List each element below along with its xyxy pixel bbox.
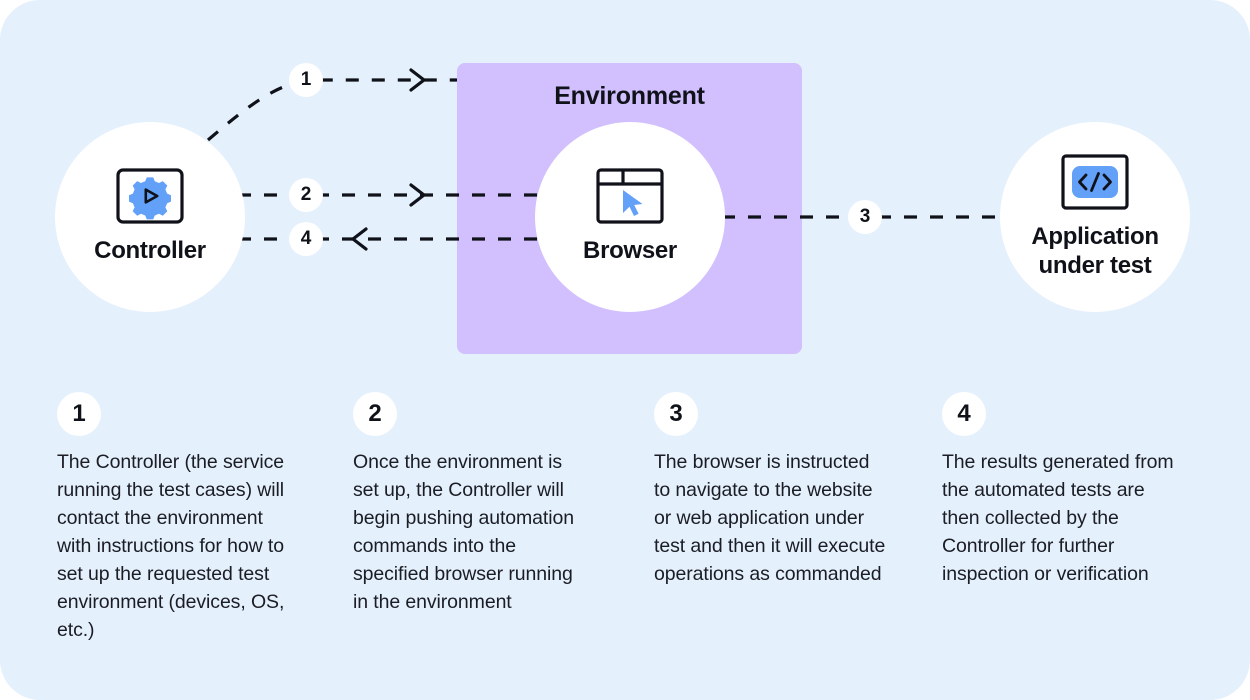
step-description: The Controller (the service running the … [57, 448, 296, 644]
node-application-under-test[interactable]: Application under test [1000, 122, 1190, 312]
connector-badge-3: 3 [848, 200, 882, 234]
connector-1-arrowhead [411, 70, 424, 90]
step-number-badge: 2 [353, 392, 397, 436]
node-controller[interactable]: Controller [55, 122, 245, 312]
node-application-label-line2: under test [1038, 252, 1151, 279]
gear-play-icon [116, 168, 184, 229]
node-browser-label: Browser [583, 237, 677, 265]
step-item: 4 The results generated from the automat… [887, 392, 1187, 644]
step-item: 2 Once the environment is set up, the Co… [296, 392, 592, 644]
node-application-label-line1: Application [1031, 223, 1158, 250]
node-application-label: Application under test [1031, 223, 1158, 280]
step-description: The browser is instructed to navigate to… [654, 448, 887, 588]
node-controller-label: Controller [94, 237, 206, 265]
connector-badge-4: 4 [289, 222, 323, 256]
code-brackets-icon [1061, 154, 1129, 215]
connector-4-arrowhead [353, 229, 366, 249]
connector-2-arrowhead [411, 185, 424, 205]
step-description: The results generated from the automated… [942, 448, 1187, 588]
step-number-badge: 3 [654, 392, 698, 436]
step-list: 1 The Controller (the service running th… [0, 392, 1250, 644]
environment-title: Environment [457, 82, 802, 111]
browser-window-cursor-icon [596, 168, 664, 229]
architecture-diagram: Environment 1 2 4 3 [0, 0, 1250, 380]
node-browser[interactable]: Browser [535, 122, 725, 312]
diagram-page: Environment 1 2 4 3 [0, 0, 1250, 700]
connector-badge-1: 1 [289, 63, 323, 97]
step-item: 3 The browser is instructed to navigate … [592, 392, 887, 644]
connector-badge-2: 2 [289, 178, 323, 212]
step-number-badge: 1 [57, 392, 101, 436]
connector-1-path [208, 80, 457, 140]
step-item: 1 The Controller (the service running th… [0, 392, 296, 644]
step-description: Once the environment is set up, the Cont… [353, 448, 592, 616]
step-number-badge: 4 [942, 392, 986, 436]
